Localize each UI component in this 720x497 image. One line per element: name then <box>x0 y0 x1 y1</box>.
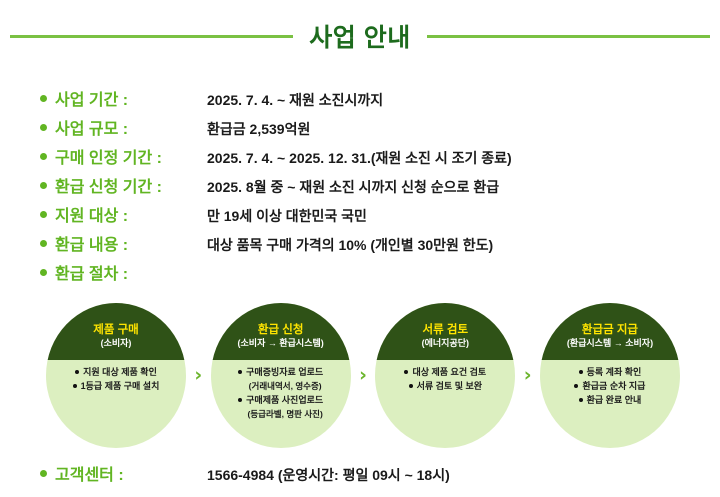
info-row-value: 2025. 7. 4. ~ 재원 소진시까지 <box>207 90 383 110</box>
bullet-icon <box>40 153 47 160</box>
flow-node-line-text: 지원 대상 제품 확인 <box>83 365 157 379</box>
flow-node: 제품 구매(소비자)지원 대상 제품 확인1등급 제품 구매 설치 <box>46 303 186 448</box>
flow-node-line-text: 서류 검토 및 보완 <box>417 379 482 393</box>
flow-node-body: 구매증빙자료 업로드(거래내역서, 영수증)구매제품 사진업로드(등급라벨, 명… <box>211 363 351 421</box>
flow-node-line-text: 대상 제품 요건 검토 <box>412 365 486 379</box>
info-row-label: 환급 내용 : <box>55 231 207 255</box>
flow-node-title: 환급금 지급 <box>582 323 638 337</box>
flow-node-subtitle: (환급시스템 → 소비자) <box>567 337 653 349</box>
info-row-value: 2025. 7. 4. ~ 2025. 12. 31.(재원 소진 시 조기 종… <box>207 148 512 168</box>
info-row-label: 환급 신청 기간 : <box>55 173 207 197</box>
flow-node-subtitle: (소비자) <box>101 337 132 349</box>
flow-node-line: 대상 제품 요건 검토 <box>404 365 486 379</box>
bullet-icon <box>40 182 47 189</box>
flow-node-title: 서류 검토 <box>423 323 469 337</box>
info-row-label: 사업 규모 : <box>55 115 207 139</box>
bullet-icon <box>404 370 408 374</box>
info-row-label: 지원 대상 : <box>55 202 207 226</box>
flow-node-line-text: (등급라벨, 명판 사진) <box>248 407 323 421</box>
info-row: 환급 절차 : <box>40 260 700 289</box>
flow-node-line: 1등급 제품 구매 설치 <box>73 379 160 393</box>
bullet-icon <box>40 124 47 131</box>
info-row-label: 사업 기간 : <box>55 86 207 110</box>
flow-node-line: 등록 계좌 확인 <box>579 365 642 379</box>
bullet-icon <box>40 269 47 276</box>
flow-node-line: (등급라벨, 명판 사진) <box>239 407 323 421</box>
chevron-right-icon: › <box>524 366 532 385</box>
flow-node-header: 제품 구매(소비자) <box>46 303 186 360</box>
flow-node-body: 등록 계좌 확인환급금 순차 지급환급 완료 안내 <box>540 363 680 407</box>
flow-node-line-text: 구매제품 사진업로드 <box>246 393 323 407</box>
bullet-icon <box>40 470 47 477</box>
flow-node-line: 환급금 순차 지급 <box>574 379 645 393</box>
flow-node: 환급금 지급(환급시스템 → 소비자)등록 계좌 확인환급금 순차 지급환급 완… <box>540 303 680 448</box>
info-row-value: 2025. 8월 중 ~ 재원 소진 시까지 신청 순으로 환급 <box>207 177 499 197</box>
flow-node-line: 구매제품 사진업로드 <box>238 393 323 407</box>
bullet-icon <box>40 240 47 247</box>
flow-node: 환급 신청(소비자 → 환급시스템)구매증빙자료 업로드(거래내역서, 영수증)… <box>211 303 351 448</box>
info-row-label: 구매 인정 기간 : <box>55 144 207 168</box>
flow-node-line-text: 등록 계좌 확인 <box>587 365 642 379</box>
bullet-icon <box>40 95 47 102</box>
bullet-icon <box>40 211 47 218</box>
customer-center-label: 고객센터 : <box>55 461 207 485</box>
info-row: 구매 인정 기간 :2025. 7. 4. ~ 2025. 12. 31.(재원… <box>40 144 700 173</box>
flow-node-line: 서류 검토 및 보완 <box>409 379 482 393</box>
flow-node-line-text: 구매증빙자료 업로드 <box>246 365 323 379</box>
bullet-icon <box>409 384 413 388</box>
bullet-icon <box>574 384 578 388</box>
flow-node-line-text: 1등급 제품 구매 설치 <box>81 379 160 393</box>
flow-node-header: 환급 신청(소비자 → 환급시스템) <box>211 303 351 360</box>
flow-node-title: 제품 구매 <box>93 323 139 337</box>
info-row: 사업 규모 :환급금 2,539억원 <box>40 115 700 144</box>
chevron-right-icon: › <box>359 366 367 385</box>
info-row: 환급 내용 :대상 품목 구매 가격의 10% (개인별 30만원 한도) <box>40 231 700 260</box>
flow-node-line: (거래내역서, 영수증) <box>240 379 322 393</box>
bullet-icon <box>73 384 77 388</box>
flow-node-line: 지원 대상 제품 확인 <box>75 365 157 379</box>
customer-center-row: 고객센터 : 1566-4984 (운영시간: 평일 09시 ~ 18시) <box>40 461 700 485</box>
flow-node-body: 대상 제품 요건 검토서류 검토 및 보완 <box>375 363 515 393</box>
info-row-value: 환급금 2,539억원 <box>207 119 310 139</box>
bullet-icon <box>238 398 242 402</box>
info-list: 사업 기간 :2025. 7. 4. ~ 재원 소진시까지사업 규모 :환급금 … <box>40 86 700 289</box>
bullet-icon <box>579 370 583 374</box>
flow-node-title: 환급 신청 <box>258 323 304 337</box>
flow-node-line: 구매증빙자료 업로드 <box>238 365 323 379</box>
info-row-value: 대상 품목 구매 가격의 10% (개인별 30만원 한도) <box>207 235 493 255</box>
refund-process-flow: 제품 구매(소비자)지원 대상 제품 확인1등급 제품 구매 설치›환급 신청(… <box>46 303 680 448</box>
flow-node-line: 환급 완료 안내 <box>579 393 642 407</box>
flow-node-subtitle: (소비자 → 환급시스템) <box>238 337 324 349</box>
header-rule-right <box>427 35 710 38</box>
page-header: 사업 안내 <box>0 14 720 58</box>
bullet-icon <box>238 370 242 374</box>
flow-node-header: 서류 검토(에너지공단) <box>375 303 515 360</box>
info-row-label: 환급 절차 : <box>55 260 207 284</box>
customer-center-value: 1566-4984 (운영시간: 평일 09시 ~ 18시) <box>207 465 450 485</box>
info-row: 사업 기간 :2025. 7. 4. ~ 재원 소진시까지 <box>40 86 700 115</box>
flow-node-line-text: 환급금 순차 지급 <box>582 379 645 393</box>
chevron-right-icon: › <box>194 366 202 385</box>
info-row: 지원 대상 :만 19세 이상 대한민국 국민 <box>40 202 700 231</box>
flow-node-subtitle: (에너지공단) <box>422 337 469 349</box>
bullet-icon <box>579 398 583 402</box>
flow-node-line-text: 환급 완료 안내 <box>587 393 642 407</box>
page-title: 사업 안내 <box>305 18 414 54</box>
flow-node-line-text: (거래내역서, 영수증) <box>249 379 322 393</box>
info-row-value: 만 19세 이상 대한민국 국민 <box>207 206 367 226</box>
flow-node: 서류 검토(에너지공단)대상 제품 요건 검토서류 검토 및 보완 <box>375 303 515 448</box>
bullet-icon <box>75 370 79 374</box>
header-rule-left <box>10 35 293 38</box>
flow-node-header: 환급금 지급(환급시스템 → 소비자) <box>540 303 680 360</box>
flow-node-body: 지원 대상 제품 확인1등급 제품 구매 설치 <box>46 363 186 393</box>
info-row: 환급 신청 기간 :2025. 8월 중 ~ 재원 소진 시까지 신청 순으로 … <box>40 173 700 202</box>
